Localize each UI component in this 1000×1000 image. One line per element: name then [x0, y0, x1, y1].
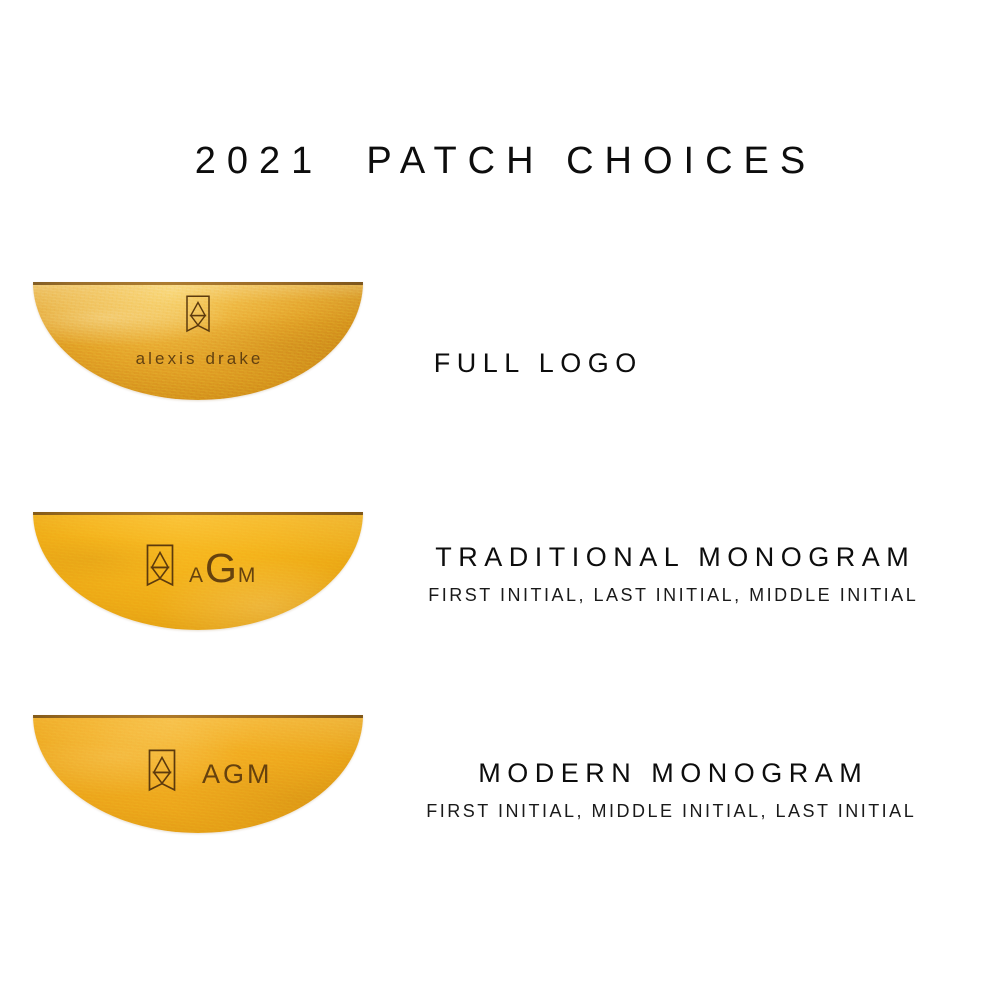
- caption-title: MODERN MONOGRAM: [360, 758, 980, 789]
- page-title: 2021 PATCH CHOICES: [0, 140, 1000, 183]
- alexis-drake-banner-logo-icon: [147, 749, 177, 799]
- monogram-middle-initial: M: [238, 564, 257, 588]
- monogram-modern: AGM: [199, 759, 273, 790]
- alexis-drake-banner-logo-icon: [185, 295, 211, 339]
- patch-stamp-full-logo: alexis drake: [33, 282, 363, 400]
- patch-stamp-traditional-monogram: A G M: [145, 544, 256, 594]
- monogram-last-initial: G: [204, 550, 238, 587]
- caption-full-logo: FULL LOGO: [390, 348, 680, 379]
- monogram-traditional: A G M: [189, 550, 256, 588]
- patch-stamp-modern-monogram: AGM: [147, 749, 273, 799]
- caption-subtitle: FIRST INITIAL, MIDDLE INITIAL, LAST INIT…: [360, 801, 980, 822]
- patch-top-edge: [33, 512, 363, 515]
- caption-modern-monogram: MODERN MONOGRAM FIRST INITIAL, MIDDLE IN…: [360, 758, 980, 822]
- patch-top-edge: [33, 715, 363, 718]
- alexis-drake-banner-logo-icon: [145, 544, 175, 594]
- caption-title: FULL LOGO: [390, 348, 680, 379]
- patch-image-full-logo: alexis drake: [33, 282, 363, 400]
- patch-image-modern-monogram: AGM: [33, 715, 363, 833]
- monogram-first-initial: A: [189, 564, 204, 588]
- brand-wordmark: alexis drake: [132, 349, 263, 369]
- caption-subtitle: FIRST INITIAL, LAST INITIAL, MIDDLE INIT…: [372, 585, 972, 606]
- patch-image-traditional-monogram: A G M: [33, 512, 363, 630]
- caption-traditional-monogram: TRADITIONAL MONOGRAM FIRST INITIAL, LAST…: [372, 542, 972, 606]
- caption-title: TRADITIONAL MONOGRAM: [372, 542, 972, 573]
